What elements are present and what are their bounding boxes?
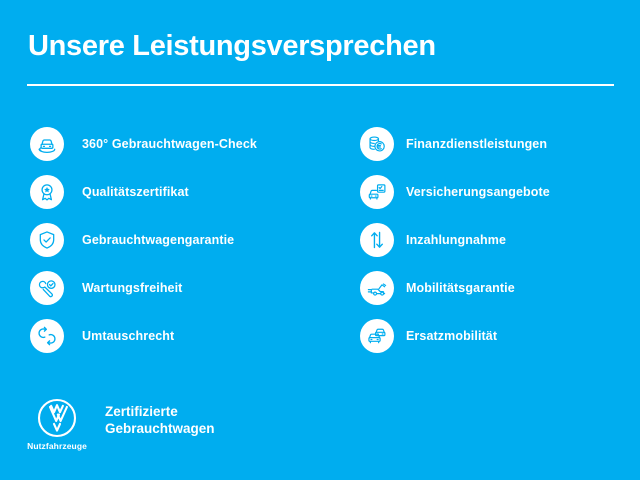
benefit-item-gebrauchtwagengarantie[interactable]: Gebrauchtwagengarantie	[30, 223, 330, 257]
two-cars-icon	[360, 319, 394, 353]
brand-lockup: Nutzfahrzeuge Zertifizierte Gebrauchtwag…	[28, 398, 215, 451]
benefit-item-versicherungsangebote[interactable]: Versicherungsangebote	[360, 175, 630, 209]
benefits-column-right: Finanzdienstleistungen Versicherungsange…	[360, 127, 630, 367]
benefit-item-finanzdienstleistungen[interactable]: Finanzdienstleistungen	[360, 127, 630, 161]
benefit-label: Umtauschrecht	[82, 329, 174, 343]
brand-mark: Nutzfahrzeuge	[28, 398, 86, 451]
benefit-item-ersatzmobilitaet[interactable]: Ersatzmobilität	[360, 319, 630, 353]
brand-tagline-line1: Zertifizierte	[105, 403, 215, 420]
benefit-item-wartungsfreiheit[interactable]: Wartungsfreiheit	[30, 271, 330, 305]
benefit-label: Versicherungsangebote	[406, 185, 550, 199]
benefit-item-gebrauchtwagen-check[interactable]: 360° Gebrauchtwagen-Check	[30, 127, 330, 161]
volkswagen-roundel-icon	[37, 398, 77, 438]
brand-tagline: Zertifizierte Gebrauchtwagen	[105, 403, 215, 437]
coins-euro-icon	[360, 127, 394, 161]
brand-subline: Nutzfahrzeuge	[27, 441, 87, 451]
benefit-item-qualitaetszertifikat[interactable]: Qualitätszertifikat	[30, 175, 330, 209]
up-down-arrows-icon	[360, 223, 394, 257]
wrench-check-icon	[30, 271, 64, 305]
page-title: Unsere Leistungsversprechen	[28, 30, 436, 63]
benefit-label: 360° Gebrauchtwagen-Check	[82, 137, 257, 151]
benefit-label: Finanzdienstleistungen	[406, 137, 547, 151]
benefits-column-left: 360° Gebrauchtwagen-Check Qualitätszerti…	[30, 127, 330, 367]
shield-check-icon	[30, 223, 64, 257]
title-divider	[27, 84, 614, 86]
promise-panel: Unsere Leistungsversprechen 360° Gebrauc…	[0, 0, 640, 480]
benefit-label: Inzahlungnahme	[406, 233, 506, 247]
brand-tagline-line2: Gebrauchtwagen	[105, 420, 215, 437]
benefit-item-umtauschrecht[interactable]: Umtauschrecht	[30, 319, 330, 353]
benefit-label: Qualitätszertifikat	[82, 185, 189, 199]
award-rosette-icon	[30, 175, 64, 209]
benefit-label: Wartungsfreiheit	[82, 281, 182, 295]
car-360-check-icon	[30, 127, 64, 161]
tow-truck-icon	[360, 271, 394, 305]
benefit-label: Gebrauchtwagengarantie	[82, 233, 234, 247]
benefit-item-mobilitaetsgarantie[interactable]: Mobilitätsgarantie	[360, 271, 630, 305]
benefit-item-inzahlungnahme[interactable]: Inzahlungnahme	[360, 223, 630, 257]
benefit-label: Ersatzmobilität	[406, 329, 497, 343]
benefit-label: Mobilitätsgarantie	[406, 281, 515, 295]
car-checklist-icon	[360, 175, 394, 209]
exchange-arrows-icon	[30, 319, 64, 353]
